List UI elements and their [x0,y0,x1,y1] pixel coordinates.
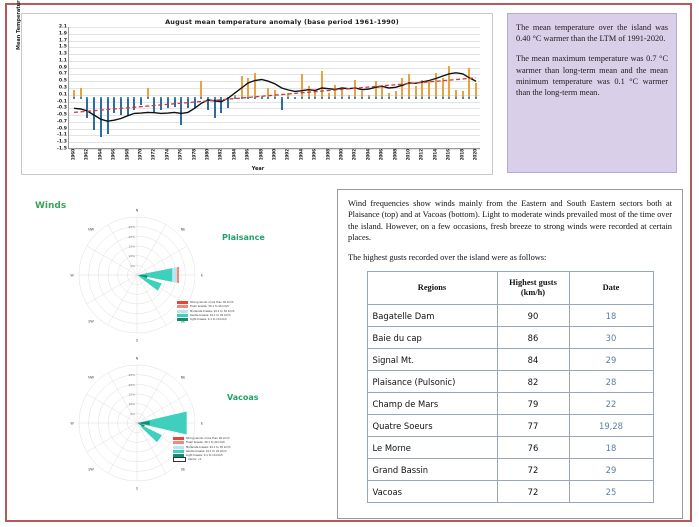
cell-highest-gust: 84 [497,349,569,371]
chart-y-tick-label: 1.9 [59,31,67,36]
wind-rose-radial-tick: 20% [128,383,135,387]
chart-y-tick-label: -0.5 [57,113,67,118]
table-row: Champ de Mars7922 [367,393,653,415]
legend-swatch [173,441,184,444]
chart-x-tick-label: 2016 [447,149,452,160]
table-header-row: Regions Highest gusts (km/h) Date [367,272,653,305]
cell-region: Signal Mt. [367,349,497,371]
wind-rose-direction-label: SE [181,467,185,471]
chart-plot-area: 2.11.91.71.51.31.10.90.70.50.30.1-0.1-0.… [68,27,480,149]
legend-swatch [177,314,188,317]
chart-title: August mean temperature anomaly (base pe… [82,18,482,26]
chart-y-tick-label: 2.1 [59,25,67,30]
wind-rose-petal [172,267,177,282]
wind-rose-direction-label: NW [88,376,95,380]
chart-x-tick-label: 2010 [407,149,412,160]
wind-rose-radial-tick: 25% [128,225,135,229]
report-page: August mean temperature anomaly (base pe… [5,3,692,522]
table-row: Plaisance (Pulsonic)8228 [367,371,653,393]
cell-date: 29 [569,349,653,371]
legend-swatch [173,437,184,440]
chart-y-tick-label: 0.3 [59,86,67,91]
column-header-gusts-line2: (km/h) [521,288,545,297]
cell-highest-gust: 72 [497,481,569,503]
legend-item: Fresh breeze: 30.1 to 40 km/h [177,305,234,309]
legend-swatch [177,305,188,308]
chart-smoothed-line [74,73,476,121]
wind-rose-vacoas-legend: Strong winds: more than 40 km/hFresh bre… [173,437,230,463]
wind-rose-grid-spoke [108,423,137,473]
chart-x-tick-label: 1994 [299,149,304,160]
wind-rose-petal [177,267,179,283]
wind-rose-radial-tick: 25% [128,373,135,377]
chart-y-axis-label: Mean Temperature Anomaly (°C) [16,0,22,50]
cell-date: 18 [569,437,653,459]
legend-swatch [177,310,188,313]
summary-paragraph-1: The mean temperature over the island was… [516,22,668,44]
chart-x-tick-label: 1998 [326,149,331,160]
legend-item: Light breeze: 0.1 to 10 km/h [177,318,234,322]
wind-rose-radial-tick: 10% [128,254,135,258]
chart-x-tick-label: 2006 [380,149,385,160]
legend-label: Calms: <1 [188,458,202,462]
cell-region: Baie du cap [367,327,497,349]
winds-text-panel: Wind frequencies show winds mainly from … [337,189,683,519]
wind-rose-radial-tick: 20% [128,235,135,239]
cell-region: Vacoas [367,481,497,503]
wind-rose-grid-spoke [137,373,166,423]
legend-item: Gentle breeze: 10.1 to 20 km/h [177,314,234,318]
wind-rose-direction-label: NW [88,228,95,232]
wind-rose-radial-tick: 15% [128,393,135,397]
chart-line-overlay [69,27,481,149]
column-header-highest-gusts: Highest gusts (km/h) [497,272,569,305]
chart-x-tick-label: 1992 [286,149,291,160]
cell-highest-gust: 72 [497,459,569,481]
chart-y-tick-label: -1.1 [57,133,67,138]
legend-swatch [173,446,184,449]
column-header-gusts-line1: Highest gusts [509,278,557,287]
cell-date: 19,28 [569,415,653,437]
chart-x-tick-label: 2018 [460,149,465,160]
cell-highest-gust: 82 [497,371,569,393]
chart-x-tick-label: 2008 [393,149,398,160]
legend-label: Moderate breeze: 20.1 to 30 km/h [190,310,234,314]
wind-rose-radial-tick: 10% [128,402,135,406]
chart-x-tick-label: 2014 [433,149,438,160]
cell-region: Bagatelle Dam [367,305,497,327]
chart-y-tick-label: -0.9 [57,126,67,131]
wind-rose-plaisance-legend: Strong winds: more than 40 km/hFresh bre… [177,301,234,322]
wind-rose-radial-tick: 5% [130,264,135,268]
column-header-regions: Regions [367,272,497,305]
wind-rose-direction-label: NE [181,228,186,232]
chart-x-tick-label: 2020 [474,149,479,160]
legend-item: Moderate breeze: 20.1 to 30 km/h [177,310,234,314]
cell-highest-gust: 76 [497,437,569,459]
legend-item: Fresh breeze: 30.1 to 40 km/h [173,441,230,445]
legend-swatch [177,318,188,321]
winds-paragraph-2: The highest gusts recorded over the isla… [348,252,672,263]
cell-date: 28 [569,371,653,393]
cell-date: 29 [569,459,653,481]
wind-rose-grid-spoke [108,275,137,325]
cell-date: 22 [569,393,653,415]
chart-x-tick-label: 2002 [353,149,358,160]
cell-date: 18 [569,305,653,327]
temperature-summary-box: The mean temperature over the island was… [507,13,677,173]
wind-rose-diagram: NNEESESSWWNW5%10%15%20%25% [67,353,207,493]
highest-gusts-table: Regions Highest gusts (km/h) Date Bagate… [367,271,654,503]
wind-rose-diagram: NNEESESSWWNW5%10%15%20%25% [67,205,207,345]
wind-rose-grid-spoke [87,423,137,452]
wind-rose-direction-label: N [136,209,139,213]
wind-rose-radial-tick: 5% [130,412,135,416]
chart-x-axis-label: Year [22,166,494,172]
legend-label: Gentle breeze: 10.1 to 20 km/h [190,314,231,318]
chart-y-tick-label: 0.7 [59,72,67,77]
legend-label: Light breeze: 0.1 to 10 km/h [190,318,227,322]
cell-date: 30 [569,327,653,349]
cell-region: Le Morne [367,437,497,459]
wind-rose-grid-spoke [87,275,137,304]
chart-y-tick-label: 1.1 [59,58,67,63]
wind-rose-vacoas-title: Vacoas [227,393,259,402]
winds-paragraph-1: Wind frequencies show winds mainly from … [348,198,672,244]
wind-rose-direction-label: S [136,339,138,343]
wind-rose-vacoas: NNEESESSWWNW5%10%15%20%25% [67,353,207,493]
summary-paragraph-2: The mean maximum temperature was 0.7 °C … [516,53,668,98]
legend-swatch [177,301,188,304]
table-row: Vacoas7225 [367,481,653,503]
wind-rose-grid-spoke [87,394,137,423]
chart-x-tick-label: 1980 [206,149,211,160]
wind-rose-direction-label: S [136,487,138,491]
chart-x-tick-label: 1996 [313,149,318,160]
chart-x-tick-label: 1982 [219,149,224,160]
chart-y-tick-label: -0.1 [57,99,67,104]
chart-x-tick-label: 1986 [246,149,251,160]
cell-date: 25 [569,481,653,503]
chart-y-tick-label: -0.7 [57,119,67,124]
chart-y-tick-label: 0.5 [59,79,67,84]
chart-y-tick-label: -0.3 [57,106,67,111]
column-header-date: Date [569,272,653,305]
chart-x-tick-label: 1962 [85,149,90,160]
wind-rose-plaisance-title: Plaisance [222,233,265,242]
chart-x-tick-label: 1984 [232,149,237,160]
chart-x-tick-label: 1974 [165,149,170,160]
wind-rose-direction-label: SW [88,467,94,471]
table-row: Baie du cap8630 [367,327,653,349]
chart-x-tick-label: 2000 [340,149,345,160]
temperature-section: August mean temperature anomaly (base pe… [15,11,683,176]
legend-label: Moderate breeze: 20.1 to 30 km/h [186,446,230,450]
cell-region: Plaisance (Pulsonic) [367,371,497,393]
chart-x-tick-label: 1990 [273,149,278,160]
table-row: Grand Bassin7229 [367,459,653,481]
chart-y-tick-label: 1.7 [59,38,67,43]
table-row: Signal Mt.8429 [367,349,653,371]
wind-rose-direction-label: SW [88,319,94,323]
chart-y-tick-label: 0.9 [59,65,67,70]
cell-highest-gust: 86 [497,327,569,349]
chart-y-tick-label: 1.3 [59,52,67,57]
wind-rose-radial-tick: 15% [128,245,135,249]
chart-y-tick-label: 1.5 [59,45,67,50]
chart-x-tick-label: 1976 [179,149,184,160]
chart-x-tick-label: 1966 [112,149,117,160]
wind-rose-plaisance: NNEESESSWWNW5%10%15%20%25% [67,205,207,345]
chart-x-tick-label: 2012 [420,149,425,160]
chart-y-tick-label: -1.5 [57,147,67,152]
chart-x-tick-label: 1978 [192,149,197,160]
legend-item: Calms: <1 [173,458,230,462]
wind-rose-direction-label: E [201,422,203,426]
table-row: Le Morne7618 [367,437,653,459]
legend-label: Gentle breeze: 10.1 to 20 km/h [186,450,227,454]
wind-rose-grid-spoke [87,246,137,275]
cell-region: Grand Bassin [367,459,497,481]
chart-y-tick-label: 0.1 [59,92,67,97]
chart-x-tick-label: 1968 [125,149,130,160]
legend-label: Fresh breeze: 30.1 to 40 km/h [190,305,229,309]
legend-label: Fresh breeze: 30.1 to 40 km/h [186,441,225,445]
legend-swatch [173,457,186,462]
chart-x-tick-label: 1970 [139,149,144,160]
cell-region: Quatre Soeurs [367,415,497,437]
cell-highest-gust: 90 [497,305,569,327]
wind-rose-direction-label: N [136,357,139,361]
cell-highest-gust: 77 [497,415,569,437]
temperature-anomaly-chart: August mean temperature anomaly (base pe… [21,13,493,175]
chart-x-tick-label: 2004 [366,149,371,160]
winds-heading: Winds [35,201,66,211]
table-row: Quatre Soeurs7719,28 [367,415,653,437]
chart-x-tick-label: 1972 [152,149,157,160]
wind-rose-grid-spoke [137,225,166,275]
wind-rose-direction-label: W [70,274,74,278]
cell-highest-gust: 79 [497,393,569,415]
legend-item: Moderate breeze: 20.1 to 30 km/h [173,446,230,450]
wind-rose-direction-label: W [70,422,74,426]
chart-x-tick-label: 1988 [259,149,264,160]
cell-region: Champ de Mars [367,393,497,415]
chart-x-tick-label: 1964 [98,149,103,160]
wind-rose-direction-label: E [201,274,203,278]
wind-rose-direction-label: NE [181,376,186,380]
chart-y-tick-label: -1.3 [57,140,67,145]
legend-item: Gentle breeze: 10.1 to 20 km/h [173,450,230,454]
chart-x-tick-label: 1960 [72,149,77,160]
table-row: Bagatelle Dam9018 [367,305,653,327]
legend-swatch [173,450,184,453]
